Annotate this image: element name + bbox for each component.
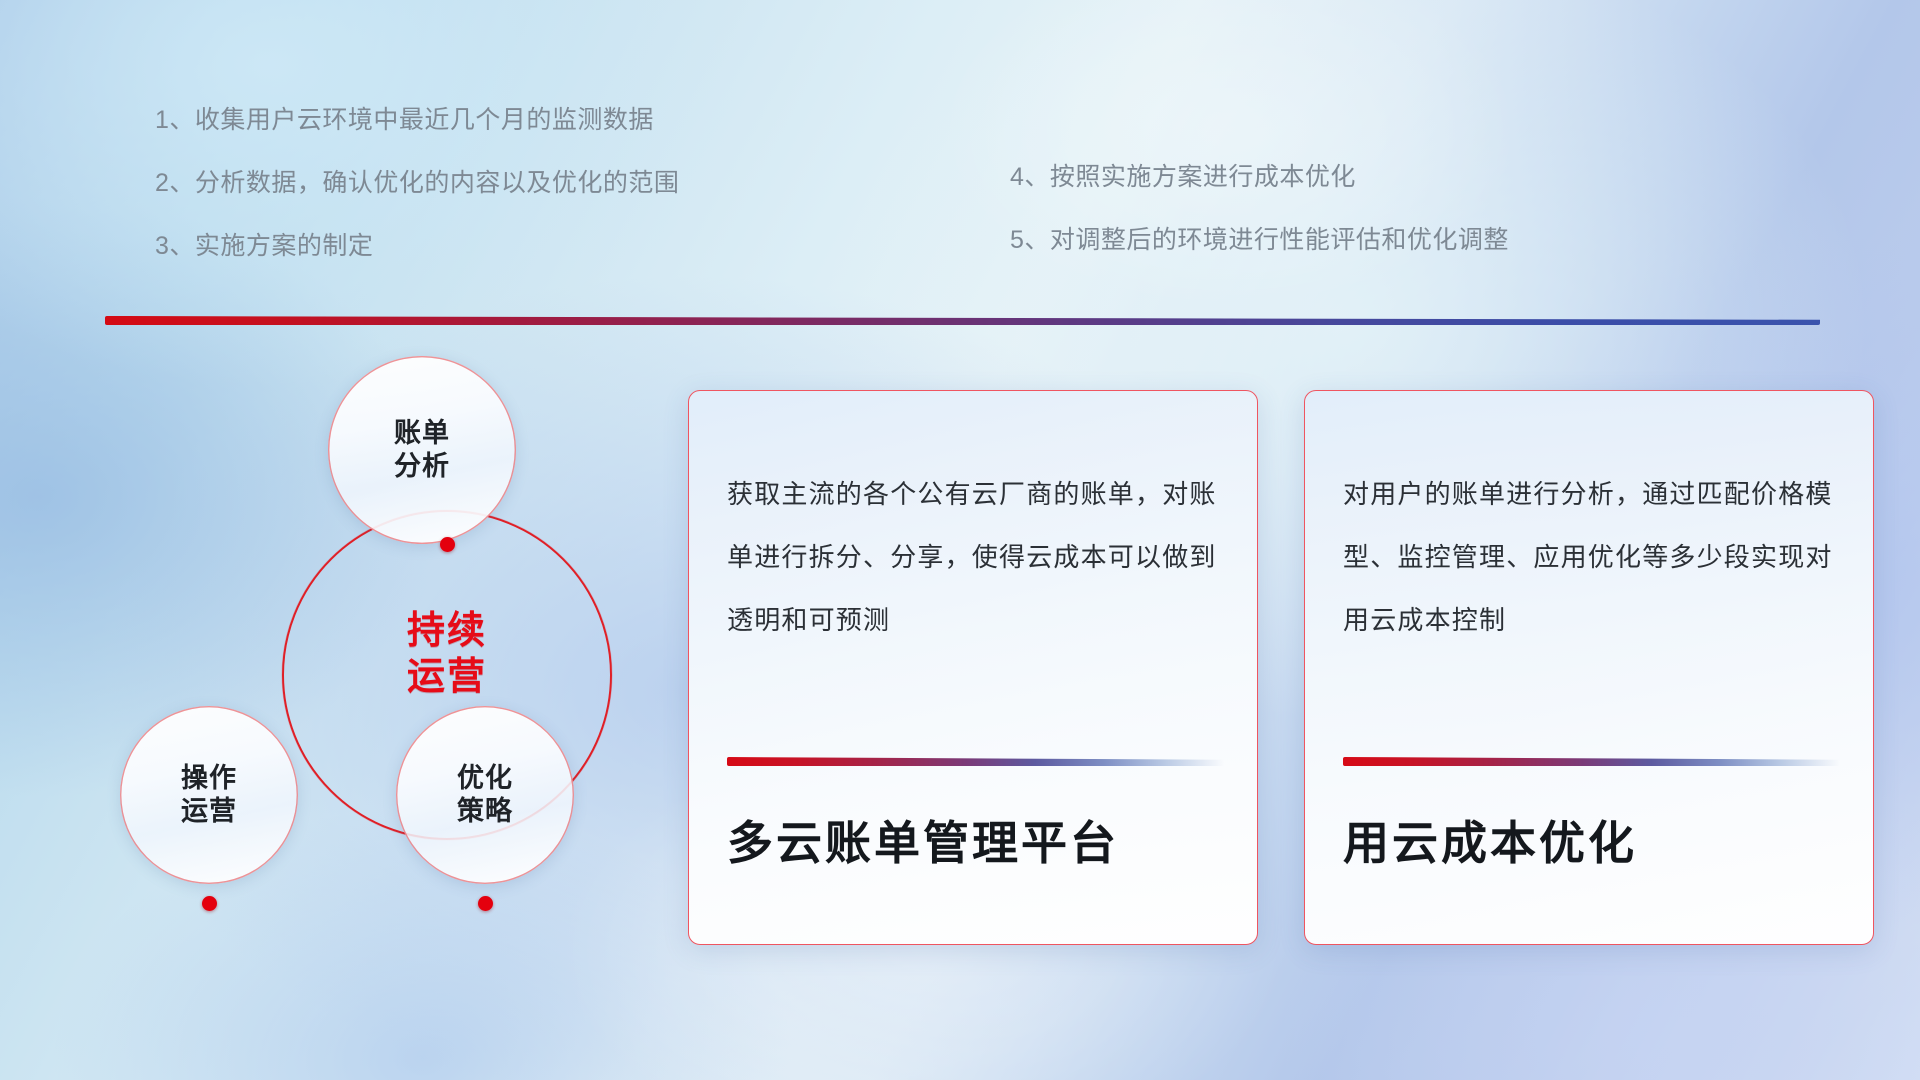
section-divider bbox=[105, 316, 1820, 325]
bubble-label-line-2: 运营 bbox=[181, 795, 237, 828]
card-body-text: 对用户的账单进行分析，通过匹配价格模型、监控管理、应用优化等多少段实现对用云成本… bbox=[1343, 463, 1843, 652]
card-accent-rule bbox=[727, 757, 1224, 766]
continuous-operations-diagram: 持续 运营 账单 分析 操作 运营 优化 策略 bbox=[96, 350, 636, 950]
bubble-label-line-1: 优化 bbox=[457, 762, 513, 795]
step-item-3: 3、实施方案的制定 bbox=[155, 226, 373, 262]
step-item-4: 4、按照实施方案进行成本优化 bbox=[1010, 157, 1356, 193]
bubble-bill-analysis-label: 账单 分析 bbox=[394, 417, 450, 483]
center-label-line-2: 运营 bbox=[282, 654, 612, 700]
slide-stage: 1、收集用户云环境中最近几个月的监测数据 2、分析数据，确认优化的内容以及优化的… bbox=[0, 0, 1920, 1080]
bubble-bill-analysis[interactable]: 账单 分析 bbox=[328, 356, 516, 544]
step-item-1: 1、收集用户云环境中最近几个月的监测数据 bbox=[155, 100, 654, 136]
card-multi-cloud-bill-platform[interactable]: 获取主流的各个公有云厂商的账单，对账单进行拆分、分享，使得云成本可以做到透明和可… bbox=[688, 390, 1258, 945]
node-dot-bottom-left bbox=[202, 896, 217, 911]
card-accent-rule bbox=[1343, 757, 1840, 766]
node-dot-bottom-right bbox=[478, 896, 493, 911]
card-title: 用云成本优化 bbox=[1343, 815, 1843, 873]
bubble-label-line-2: 分析 bbox=[394, 450, 450, 483]
bubble-optimization-policy-label: 优化 策略 bbox=[457, 762, 513, 828]
card-title: 多云账单管理平台 bbox=[727, 815, 1227, 873]
center-label-line-1: 持续 bbox=[282, 608, 612, 654]
bubble-label-line-1: 账单 bbox=[394, 417, 450, 450]
diagram-center-label: 持续 运营 bbox=[282, 608, 612, 701]
bubble-operation-ops-label: 操作 运营 bbox=[181, 762, 237, 828]
card-cloud-cost-optimization[interactable]: 对用户的账单进行分析，通过匹配价格模型、监控管理、应用优化等多少段实现对用云成本… bbox=[1304, 390, 1874, 945]
step-item-5: 5、对调整后的环境进行性能评估和优化调整 bbox=[1010, 220, 1509, 256]
divider-gradient-bar bbox=[105, 316, 1820, 325]
card-body-text: 获取主流的各个公有云厂商的账单，对账单进行拆分、分享，使得云成本可以做到透明和可… bbox=[727, 463, 1227, 652]
step-item-2: 2、分析数据，确认优化的内容以及优化的范围 bbox=[155, 163, 679, 199]
bubble-operation-ops[interactable]: 操作 运营 bbox=[120, 706, 298, 884]
bubble-optimization-policy[interactable]: 优化 策略 bbox=[396, 706, 574, 884]
bubble-label-line-2: 策略 bbox=[457, 795, 513, 828]
bubble-label-line-1: 操作 bbox=[181, 762, 237, 795]
node-dot-top bbox=[440, 537, 455, 552]
